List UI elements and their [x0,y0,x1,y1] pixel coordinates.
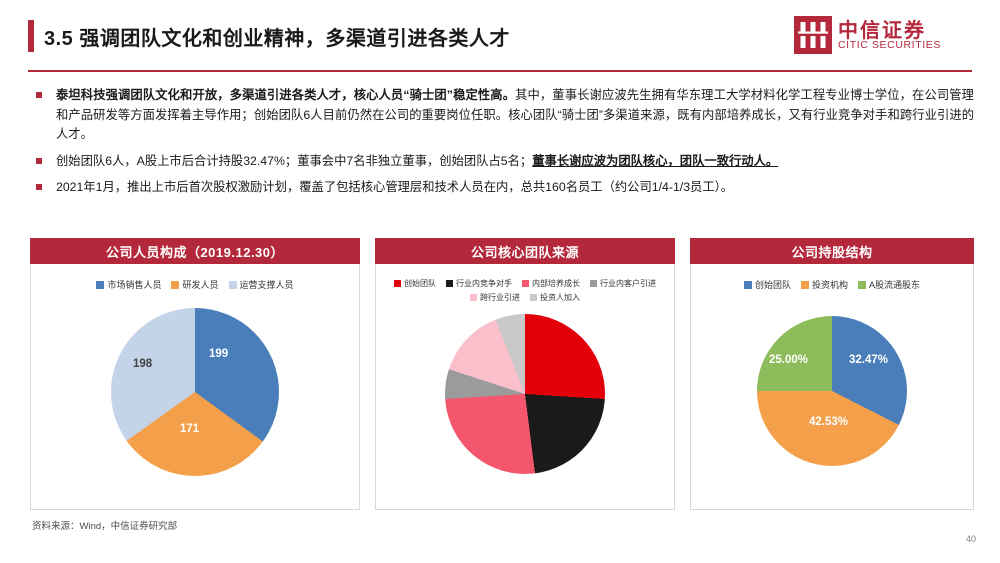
legend-label: 投资机构 [812,278,848,291]
chart-panel-core-team-source: 公司核心团队来源 创始团队 行业内竞争对手 内部培养成长 行业内客户引进 [375,238,675,510]
chart-2-pie [445,314,605,474]
pie-slice-label: 171 [180,423,199,435]
citic-logo: 中信证券 CITIC SECURITIES [794,14,974,58]
legend-item: 创始团队 [744,278,791,291]
legend-item: 市场销售人员 [96,278,161,291]
bullet-marker-icon [36,158,42,164]
chart-2-body: 创始团队 行业内竞争对手 内部培养成长 行业内客户引进 跨行业引进 [375,264,675,510]
page-title: 3.5 强调团队文化和创业精神，多渠道引进各类人才 [44,22,510,51]
legend-label: 运营支撑人员 [240,278,294,291]
chart-2-pie-wrap [376,314,674,474]
legend-item: A股流通股东 [858,278,920,291]
legend-label: A股流通股东 [869,278,920,291]
legend-label: 创始团队 [755,278,791,291]
chart-3-pie-wrap: 32.47% 42.53% 25.00% [691,316,973,466]
pie-slice-label: 198 [133,358,152,370]
bullet-item-1: 泰坦科技强调团队文化和开放，多渠道引进各类人才，核心人员“骑士团”稳定性高。其中… [30,86,974,145]
header-divider [28,70,972,72]
legend-label: 研发人员 [182,278,218,291]
legend-item: 创始团队 [394,278,436,289]
legend-label: 创始团队 [404,278,436,289]
legend-label: 内部培养成长 [532,278,580,289]
bullet-marker-icon [36,92,42,98]
slide-header: 3.5 强调团队文化和创业精神，多渠道引进各类人才 中信证券 CITIC SEC… [0,0,1000,70]
legend-item: 跨行业引进 [470,292,520,303]
bullet-marker-icon [36,184,42,190]
pie-slice-label: 32.47% [849,354,888,366]
legend-label: 行业内竞争对手 [456,278,512,289]
title-accent-bar [28,20,34,52]
legend-item: 行业内竞争对手 [446,278,512,289]
legend-swatch-icon [530,294,537,301]
bullet-3-text: 2021年1月，推出上市后首次股权激励计划，覆盖了包括核心管理层和技术人员在内，… [56,180,733,194]
legend-swatch-icon [171,281,179,289]
legend-item: 行业内客户引进 [590,278,656,289]
legend-swatch-icon [96,281,104,289]
legend-item: 投资机构 [801,278,848,291]
source-note: 资料来源：Wind，中信证券研究部 [32,518,177,532]
page-number: 40 [966,534,976,544]
legend-swatch-icon [858,281,866,289]
bullet-list: 泰坦科技强调团队文化和开放，多渠道引进各类人才，核心人员“骑士团”稳定性高。其中… [30,86,974,205]
chart-1-title: 公司人员构成（2019.12.30） [30,238,360,264]
slide: 3.5 强调团队文化和创业精神，多渠道引进各类人才 中信证券 CITIC SEC… [0,0,1000,563]
chart-1-pie: 199 171 198 [111,308,279,476]
chart-2-title: 公司核心团队来源 [375,238,675,264]
legend-swatch-icon [470,294,477,301]
legend-label: 行业内客户引进 [600,278,656,289]
legend-swatch-icon [744,281,752,289]
bullet-2-text: 创始团队6人，A股上市后合计持股32.47%；董事会中7名非独立董事，创始团队占… [56,154,532,168]
chart-1-pie-wrap: 199 171 198 [31,308,359,476]
legend-swatch-icon [229,281,237,289]
chart-3-body: 创始团队 投资机构 A股流通股东 32.47% 42.53% 25.00% [690,264,974,510]
pie-slice-label: 199 [209,348,228,360]
legend-swatch-icon [446,280,453,287]
bullet-1-bold: 泰坦科技强调团队文化和开放，多渠道引进各类人才，核心人员“骑士团”稳定性高。 [56,88,515,102]
chart-3-title: 公司持股结构 [690,238,974,264]
bullet-item-3: 2021年1月，推出上市后首次股权激励计划，覆盖了包括核心管理层和技术人员在内，… [30,178,974,198]
pie-slice-label: 25.00% [769,354,808,366]
chart-1-legend: 市场销售人员 研发人员 运营支撑人员 [31,278,359,291]
legend-item: 内部培养成长 [522,278,580,289]
pie-slice-label: 42.53% [809,416,848,428]
chart-2-legend: 创始团队 行业内竞争对手 内部培养成长 行业内客户引进 跨行业引进 [376,278,674,303]
legend-item: 投资人加入 [530,292,580,303]
legend-label: 跨行业引进 [480,292,520,303]
legend-item: 运营支撑人员 [229,278,294,291]
legend-label: 市场销售人员 [107,278,161,291]
logo-text-en: CITIC SECURITIES [838,39,941,51]
legend-swatch-icon [801,281,809,289]
legend-label: 投资人加入 [540,292,580,303]
legend-swatch-icon [394,280,401,287]
chart-1-body: 市场销售人员 研发人员 运营支撑人员 199 171 198 [30,264,360,510]
legend-item: 研发人员 [171,278,218,291]
chart-3-pie: 32.47% 42.53% 25.00% [757,316,907,466]
citic-logo-icon [794,16,832,54]
legend-swatch-icon [590,280,597,287]
chart-panel-staff-composition: 公司人员构成（2019.12.30） 市场销售人员 研发人员 运营支撑人员 [30,238,360,510]
legend-swatch-icon [522,280,529,287]
chart-3-legend: 创始团队 投资机构 A股流通股东 [691,278,973,291]
bullet-item-2: 创始团队6人，A股上市后合计持股32.47%；董事会中7名非独立董事，创始团队占… [30,152,974,172]
chart-panel-ownership: 公司持股结构 创始团队 投资机构 A股流通股东 32.47% [690,238,974,510]
bullet-2-underline: 董事长谢应波为团队核心，团队一致行动人。 [532,154,778,168]
